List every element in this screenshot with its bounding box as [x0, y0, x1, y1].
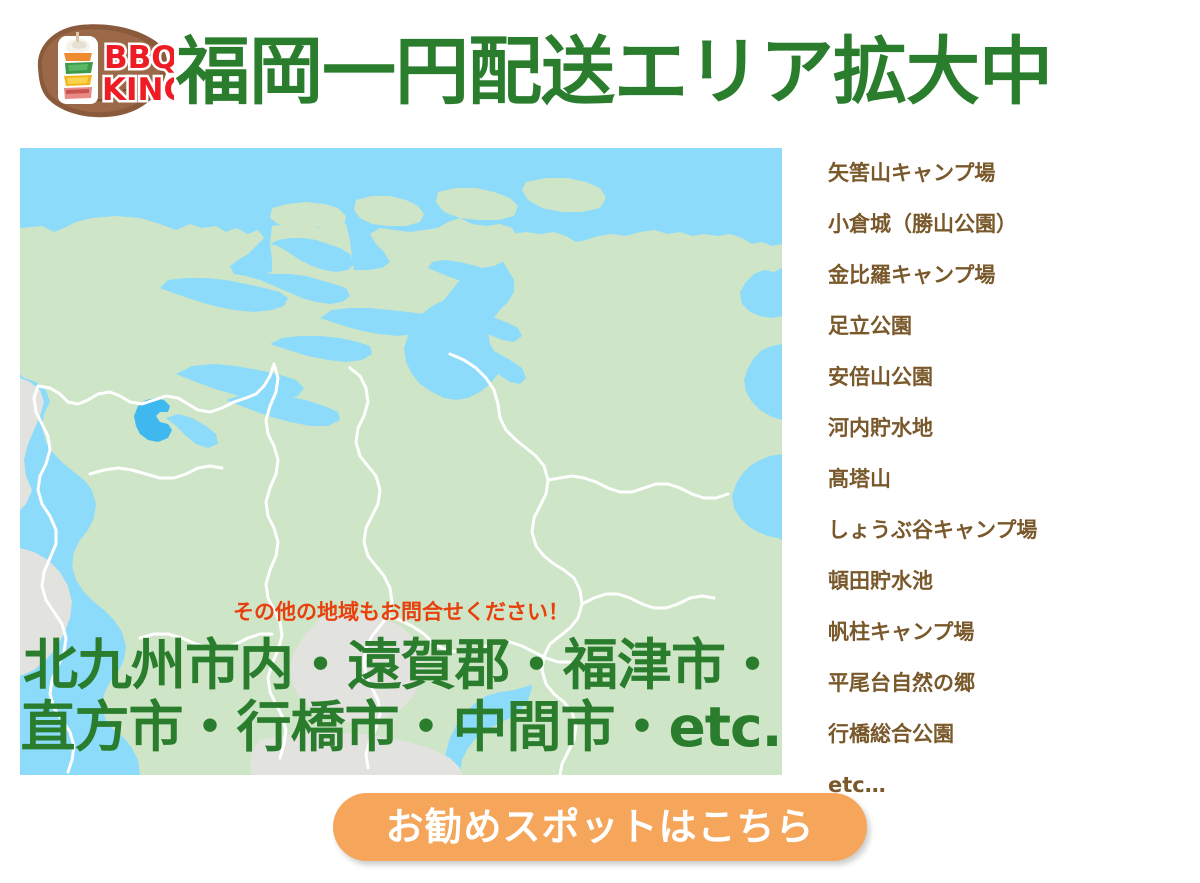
- skewer-icon: [58, 32, 98, 104]
- list-item: 頓田貯水池: [810, 556, 1180, 607]
- list-item: 髙塔山: [810, 454, 1180, 505]
- recommended-spots-button-label: お勧めスポットはこちら: [385, 808, 814, 846]
- list-item: 行橋総合公園: [810, 709, 1180, 760]
- recommended-spots-button[interactable]: お勧めスポットはこちら: [333, 793, 867, 861]
- list-item: 安倍山公園: [810, 352, 1180, 403]
- list-item: しょうぶ谷キャンプ場: [810, 505, 1180, 556]
- list-item: 平尾台自然の郷: [810, 658, 1180, 709]
- list-item: 河内貯水地: [810, 403, 1180, 454]
- map-land: [20, 178, 782, 775]
- list-item: 金比羅キャンプ場: [810, 250, 1180, 301]
- list-item: 小倉城（勝山公園）: [810, 199, 1180, 250]
- headline-text: 福岡一円配送エリア拡大中: [176, 35, 1052, 109]
- promo-banner: BBQ KING 福岡一円配送エリア拡大中: [0, 0, 1200, 883]
- list-item: etc…: [810, 760, 1180, 811]
- list-item: 矢筈山キャンプ場: [810, 148, 1180, 199]
- delivery-area-map: [20, 148, 782, 775]
- page-title: 福岡一円配送エリア拡大中: [176, 20, 1186, 124]
- logo-text-king: KING: [102, 72, 174, 108]
- list-item: 足立公園: [810, 301, 1180, 352]
- banner-header: BBQ KING 福岡一円配送エリア拡大中: [0, 0, 1200, 140]
- map-outside-south: [290, 614, 424, 722]
- logo-text-bbq: BBQ: [104, 40, 174, 76]
- list-item: 帆柱キャンプ場: [810, 607, 1180, 658]
- bbq-king-logo: BBQ KING: [28, 18, 174, 122]
- recommended-spot-list: 矢筈山キャンプ場 小倉城（勝山公園） 金比羅キャンプ場 足立公園 安倍山公園 河…: [810, 148, 1180, 788]
